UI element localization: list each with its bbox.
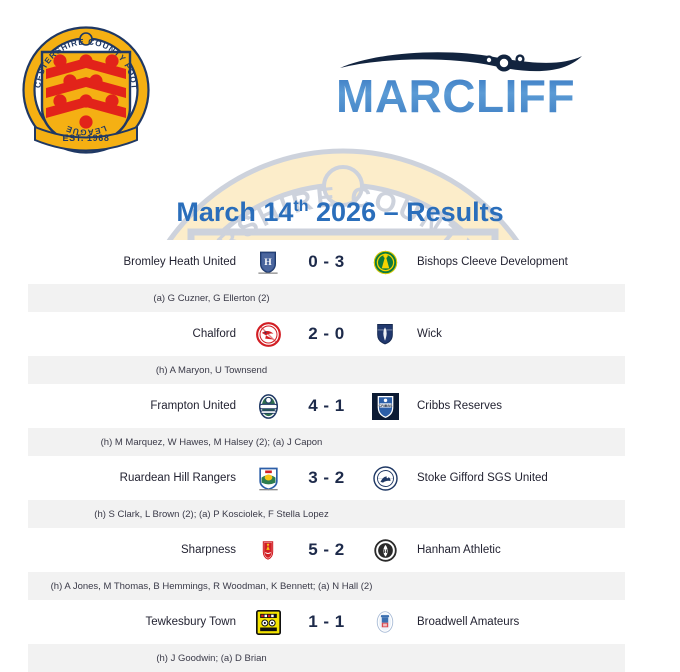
badge-banner-text: EST. 1968	[63, 133, 110, 143]
broadwell-amateurs-crest	[367, 605, 403, 639]
match-row: Bromley Heath United H 0 - 3 Bishops Cle…	[28, 240, 625, 284]
ruardean-hill-rangers-crest	[250, 461, 286, 495]
away-team-name: Hanham Athletic	[403, 544, 625, 556]
bromley-heath-united-crest: H	[250, 245, 286, 279]
match-row: Frampton United 4 - 1 CRIBBS Cribbs Rese…	[28, 384, 625, 428]
scorers-text: (a) G Cuzner, G Ellerton (2)	[28, 293, 625, 304]
away-team-name: Cribbs Reserves	[403, 400, 625, 412]
match-row: Chalford 2 - 0 Wick	[28, 312, 625, 356]
frampton-united-crest	[250, 389, 286, 423]
svg-text:H: H	[264, 257, 272, 268]
bishops-cleeve-development-crest	[367, 245, 403, 279]
scorers-text: (h) A Jones, M Thomas, B Hemmings, R Woo…	[28, 581, 625, 592]
scorers-text: (h) J Goodwin; (a) D Brian	[28, 653, 625, 664]
scorers-row: (h) A Jones, M Thomas, B Hemmings, R Woo…	[28, 572, 625, 600]
match-score: 3 - 2	[286, 468, 367, 488]
wick-crest	[367, 317, 403, 351]
page-header: GLOUCESTERSHIRE COUNTY FOOTBALL LEAGUE E…	[0, 0, 680, 165]
scorers-row: (h) S Clark, L Brown (2); (a) P Kosciole…	[28, 500, 625, 528]
chalford-crest	[250, 317, 286, 351]
home-team-name: Tewkesbury Town	[28, 616, 250, 628]
results-table: Bromley Heath United H 0 - 3 Bishops Cle…	[28, 240, 625, 672]
home-team-name: Chalford	[28, 328, 250, 340]
hanham-athletic-crest: H	[367, 533, 403, 567]
match-score: 4 - 1	[286, 396, 367, 416]
away-team-name: Stoke Gifford SGS United	[403, 472, 625, 484]
scorers-row: (h) M Marquez, W Hawes, M Halsey (2); (a…	[28, 428, 625, 456]
sharpness-crest	[250, 533, 286, 567]
stoke-gifford-sgs-united-crest	[367, 461, 403, 495]
match-score: 0 - 3	[286, 252, 367, 272]
home-team-name: Ruardean Hill Rangers	[28, 472, 250, 484]
svg-text:CRIBBS: CRIBBS	[378, 403, 392, 407]
match-row: Sharpness 5 - 2 H Hanham Athletic	[28, 528, 625, 572]
page-title-ordinal: th	[293, 198, 308, 215]
cribbs-reserves-crest: CRIBBS	[367, 389, 403, 423]
away-team-name: Bishops Cleeve Development	[403, 256, 625, 268]
scorers-row: (h) J Goodwin; (a) D Brian	[28, 644, 625, 672]
scorers-text: (h) M Marquez, W Hawes, M Halsey (2); (a…	[28, 437, 625, 448]
match-row: Ruardean Hill Rangers 3 - 2 Stoke Giffor…	[28, 456, 625, 500]
away-team-name: Broadwell Amateurs	[403, 616, 625, 628]
match-score: 2 - 0	[286, 324, 367, 344]
match-score: 5 - 2	[286, 540, 367, 560]
tewkesbury-town-crest	[250, 605, 286, 639]
home-team-name: Bromley Heath United	[28, 256, 250, 268]
scorers-text: (h) A Maryon, U Townsend	[28, 365, 625, 376]
page-title-suffix: 2026 – Results	[309, 197, 504, 227]
page-title: March 14th 2026 – Results	[0, 197, 680, 228]
marcliff-wordmark: MARCLIFF	[336, 68, 586, 124]
home-team-name: Frampton United	[28, 400, 250, 412]
scorers-row: (a) G Cuzner, G Ellerton (2)	[28, 284, 625, 312]
scorers-text: (h) S Clark, L Brown (2); (a) P Kosciole…	[28, 509, 625, 520]
home-team-name: Sharpness	[28, 544, 250, 556]
away-team-name: Wick	[403, 328, 625, 340]
match-row: Tewkesbury Town 1 - 1 Broadwell Amateurs	[28, 600, 625, 644]
page-title-prefix: March 14	[176, 197, 293, 227]
marcliff-logo: MARCLIFF	[336, 44, 586, 124]
match-score: 1 - 1	[286, 612, 367, 632]
scorers-row: (h) A Maryon, U Townsend	[28, 356, 625, 384]
gloucestershire-county-football-league-badge: GLOUCESTERSHIRE COUNTY FOOTBALL LEAGUE E…	[22, 24, 150, 160]
